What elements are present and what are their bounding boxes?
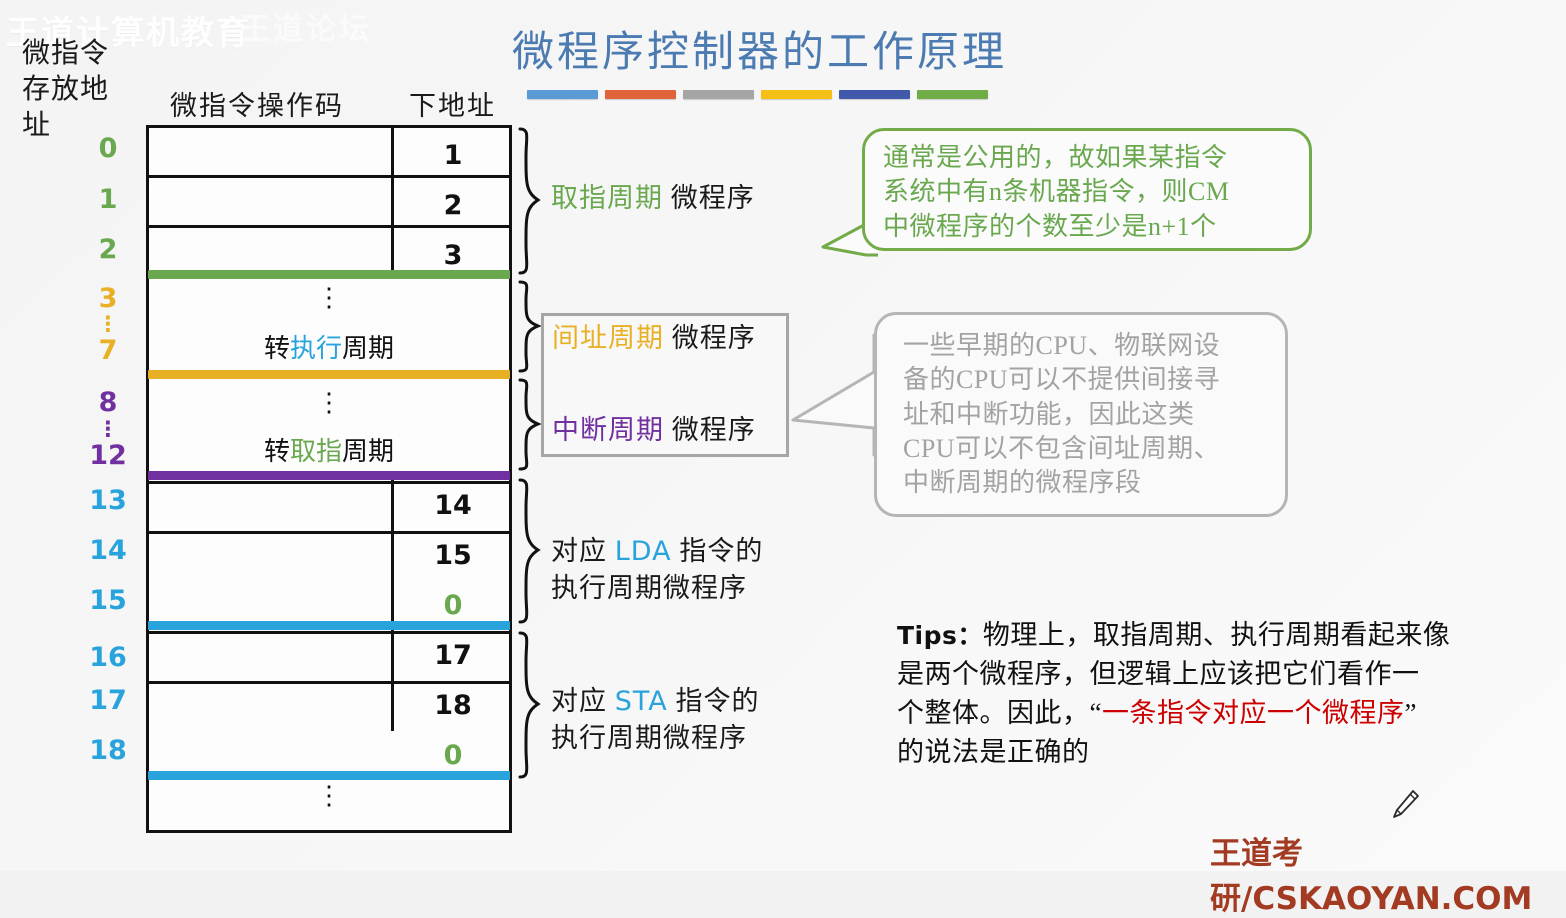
label-fetch-microprogram: 取指周期 微程序 <box>551 180 755 216</box>
accent-bar-darkblue <box>839 90 910 99</box>
callout-gray-line4: CPU可以不包含间址周期、 <box>903 432 1271 466</box>
label-interrupt-microprogram: 中断周期 微程序 <box>552 412 756 448</box>
callout-green-line2: 系统中有n条机器指令，则CM <box>883 175 1293 209</box>
accent-bar-blue <box>527 90 598 99</box>
address-label-8: 8 <box>75 387 141 418</box>
separator-purple <box>148 471 510 480</box>
label-lda-prefix: 对应 <box>551 536 615 566</box>
accent-bar-yellow <box>761 90 832 99</box>
address-column-header: 微指令 存放地 址 <box>22 36 132 143</box>
pen-cursor-icon <box>1388 788 1422 822</box>
address-label-15: 15 <box>75 585 141 616</box>
address-label-3: 3 <box>75 283 141 314</box>
brace-interrupt-cycle <box>514 377 544 472</box>
row-divider-1 <box>149 225 509 228</box>
exec-jump-prefix: 转 <box>264 334 290 363</box>
address-label-ellipsis-1: ⋮ <box>75 312 141 336</box>
exec-jump-highlight: 执行 <box>290 334 342 363</box>
label-sta-line1: 对应 STA 指令的 <box>551 683 760 720</box>
label-indirect-highlight: 间址周期 <box>552 323 664 353</box>
fetch-jump-prefix: 转 <box>264 437 290 466</box>
address-label-ellipsis-2: ⋮ <box>75 417 141 441</box>
opcode-column-header: 微指令操作码 <box>170 84 344 123</box>
next-address-cell-15: 0 <box>394 590 512 621</box>
label-fetch-rest: 微程序 <box>671 183 755 213</box>
next-address-cell-13: 14 <box>394 490 512 521</box>
next-address-cell-2: 3 <box>394 240 512 271</box>
vertical-ellipsis-tail: ⋮ <box>149 783 509 809</box>
accent-bar-green <box>917 90 988 99</box>
callout-green-text: 通常是公用的，故如果某指令 系统中有n条机器指令，则CM 中微程序的个数至少是n… <box>865 131 1309 244</box>
address-label-2: 2 <box>75 234 141 265</box>
tips-line2: 是两个微程序，但逻辑上应该把它们看作一 <box>897 655 1517 694</box>
row-divider-3 <box>149 531 509 534</box>
label-interrupt-rest: 微程序 <box>672 415 756 445</box>
address-label-18: 18 <box>75 735 141 766</box>
tips-label: Tips： <box>897 621 983 650</box>
accent-bar-row <box>527 90 988 99</box>
address-label-17: 17 <box>75 685 141 716</box>
row-divider-4 <box>149 631 509 634</box>
tips-line3: 个整体。因此，“一条指令对应一个微程序” <box>897 694 1517 733</box>
callout-gray-text: 一些早期的CPU、物联网设 备的CPU可以不提供间接寻 址和中断功能，因此这类 … <box>877 315 1285 501</box>
accent-bar-gray <box>683 90 754 99</box>
next-address-cell-14: 15 <box>394 540 512 571</box>
callout-gray-line2: 备的CPU可以不提供间接寻 <box>903 363 1271 397</box>
next-address-cell-1: 2 <box>394 190 512 221</box>
label-fetch-highlight: 取指周期 <box>551 183 663 213</box>
separator-cyan-2 <box>148 771 510 780</box>
callout-gray-line5: 中断周期的微程序段 <box>903 466 1271 500</box>
separator-cyan-1 <box>148 621 510 630</box>
brace-sta-exec <box>514 630 544 780</box>
tips-line3-emphasis: 一条指令对应一个微程序 <box>1102 698 1405 728</box>
callout-gray-line1: 一些早期的CPU、物联网设 <box>903 329 1271 363</box>
row-divider-5 <box>149 681 509 684</box>
address-label-0: 0 <box>75 133 141 164</box>
next-address-cell-17: 18 <box>394 690 512 721</box>
label-sta-code: STA <box>615 686 668 717</box>
label-lda-microprogram: 对应 LDA 指令的 执行周期微程序 <box>551 533 763 607</box>
tips-line3-b: ” <box>1404 698 1416 728</box>
slide-canvas: 王道计算机教育 王道论坛 微程序控制器的工作原理 微指令 存放地 址 微指令操作… <box>0 0 1566 871</box>
address-header-line1: 微指令 <box>22 36 132 72</box>
brace-fetch-cycle <box>514 126 544 276</box>
footer-brand: 王道考研/CSKAOYAN.COM <box>1210 828 1566 918</box>
tips-line1-text: 物理上，取指周期、执行周期看起来像 <box>983 620 1451 650</box>
tips-block: Tips：物理上，取指周期、执行周期看起来像 是两个微程序，但逻辑上应该把它们看… <box>897 616 1517 773</box>
exec-jump-row: 转执行周期 <box>149 328 509 365</box>
row-divider-2 <box>149 481 509 484</box>
callout-green-line1: 通常是公用的，故如果某指令 <box>883 141 1293 175</box>
address-header-line2: 存放地 <box>22 72 132 108</box>
address-label-14: 14 <box>75 535 141 566</box>
fetch-jump-row: 转取指周期 <box>149 431 509 468</box>
tips-line4: 的说法是正确的 <box>897 733 1517 772</box>
exec-jump-suffix: 周期 <box>342 334 394 363</box>
fetch-jump-suffix: 周期 <box>342 437 394 466</box>
label-lda-line1: 对应 LDA 指令的 <box>551 533 763 570</box>
label-sta-suffix: 指令的 <box>668 686 760 716</box>
next-address-column-header: 下地址 <box>409 84 496 123</box>
watermark-ghost: 王道论坛 <box>240 4 372 48</box>
fetch-jump-highlight: 取指 <box>290 437 342 466</box>
vertical-ellipsis-exec: ⋮ <box>149 285 509 311</box>
label-sta-microprogram: 对应 STA 指令的 执行周期微程序 <box>551 683 760 757</box>
callout-gray-line3: 址和中断功能，因此这类 <box>903 398 1271 432</box>
next-address-cell-16: 17 <box>394 640 512 671</box>
next-address-cell-18: 0 <box>394 740 512 771</box>
label-interrupt-highlight: 中断周期 <box>552 415 664 445</box>
brace-indirect-cycle <box>514 279 544 374</box>
tips-line3-a: 个整体。因此，“ <box>897 698 1102 728</box>
page-title: 微程序控制器的工作原理 <box>512 18 1007 79</box>
address-label-16: 16 <box>75 642 141 673</box>
row-divider-0 <box>149 175 509 178</box>
callout-green-line3: 中微程序的个数至少是n+1个 <box>883 210 1293 244</box>
label-lda-code: LDA <box>615 536 672 567</box>
accent-bar-orange <box>605 90 676 99</box>
brace-lda-exec <box>514 477 544 625</box>
vertical-ellipsis-fetch: ⋮ <box>149 390 509 416</box>
callout-gray: 一些早期的CPU、物联网设 备的CPU可以不提供间接寻 址和中断功能，因此这类 … <box>874 312 1288 517</box>
address-label-12: 12 <box>75 440 141 471</box>
label-lda-suffix: 指令的 <box>672 536 764 566</box>
tips-line1: Tips：物理上，取指周期、执行周期看起来像 <box>897 616 1517 655</box>
label-sta-prefix: 对应 <box>551 686 615 716</box>
address-label-1: 1 <box>75 184 141 215</box>
next-address-cell-0: 1 <box>394 140 512 171</box>
label-sta-line2: 执行周期微程序 <box>551 720 760 756</box>
label-lda-line2: 执行周期微程序 <box>551 570 763 606</box>
separator-green <box>148 270 510 279</box>
address-label-7: 7 <box>75 335 141 366</box>
label-indirect-rest: 微程序 <box>672 323 756 353</box>
separator-yellow <box>148 370 510 379</box>
callout-green: 通常是公用的，故如果某指令 系统中有n条机器指令，则CM 中微程序的个数至少是n… <box>862 128 1312 251</box>
address-label-13: 13 <box>75 485 141 516</box>
label-indirect-microprogram: 间址周期 微程序 <box>552 320 756 356</box>
